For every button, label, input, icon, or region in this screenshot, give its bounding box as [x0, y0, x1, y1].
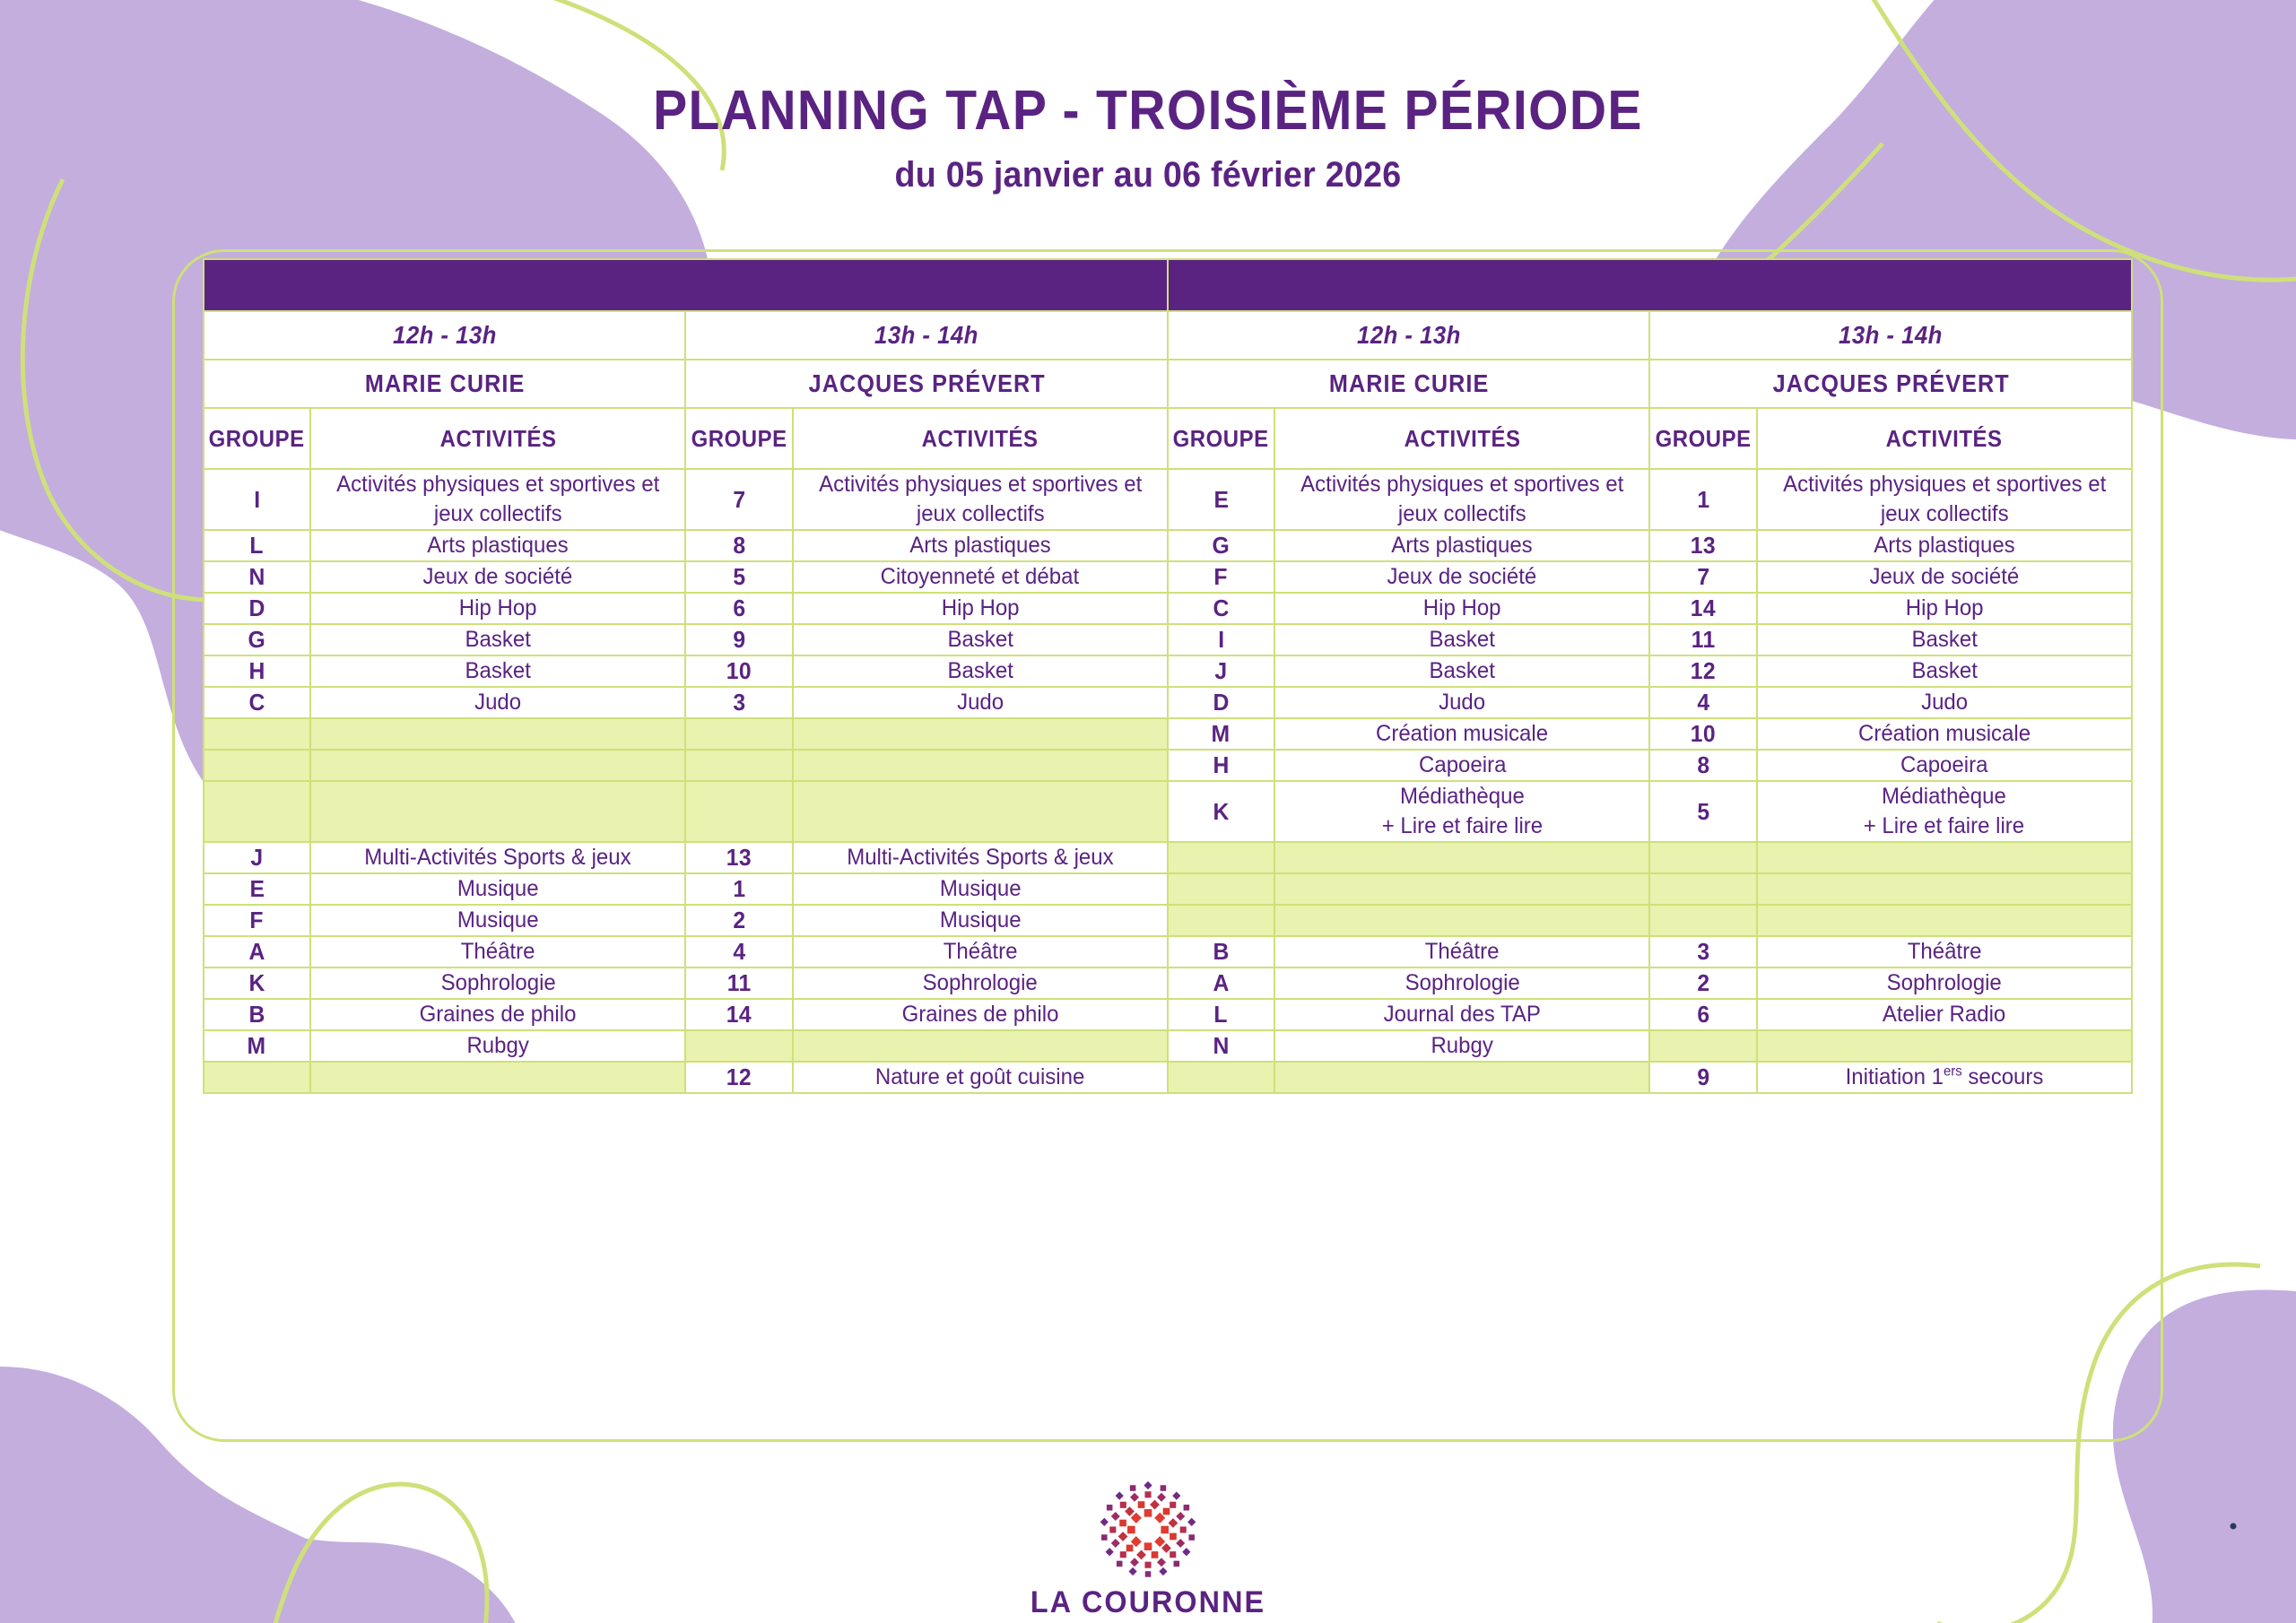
- cell-group-lundi-mc: D: [204, 593, 310, 624]
- cell-group-lundi-mc: C: [204, 687, 310, 718]
- cell-group-jeudi-jp: 1: [1649, 469, 1756, 530]
- cell-group-lundi-jp: 14: [685, 999, 792, 1030]
- cell-activity-lundi-jp: Judo: [793, 687, 1168, 718]
- cell-activity-lundi-jp: Multi-Activités Sports & jeux: [793, 842, 1168, 873]
- logo-square: [1161, 1526, 1169, 1534]
- cell-group-jeudi-mc: M: [1168, 718, 1274, 750]
- logo-square: [1120, 1502, 1126, 1508]
- cell-group-lundi-jp: [685, 718, 792, 750]
- day-banner-lundi: LUNDI: [204, 259, 1168, 311]
- table-row: JMulti-Activités Sports & jeux13Multi-Ac…: [204, 842, 2132, 873]
- table-row: KMédiathèque+ Lire et faire lire5Médiath…: [204, 781, 2132, 842]
- cell-group-jeudi-jp: 6: [1649, 999, 1756, 1030]
- cell-activity-jeudi-jp: [1757, 873, 2133, 905]
- cell-group-jeudi-mc: B: [1168, 936, 1274, 968]
- cell-activity-lundi-mc: Graines de philo: [310, 999, 685, 1030]
- cell-activity-jeudi-mc: Basket: [1274, 624, 1649, 655]
- table-row: LArts plastiques8Arts plastiquesGArts pl…: [204, 530, 2132, 561]
- day-banner-jeudi: JEUDI: [1168, 259, 2132, 311]
- cell-activity-lundi-jp: Basket: [793, 655, 1168, 687]
- table-row: EMusique1Musique: [204, 873, 2132, 905]
- cell-activity-jeudi-mc: Théâtre: [1274, 936, 1649, 968]
- cell-group-lundi-jp: 4: [685, 936, 792, 968]
- cell-group-jeudi-jp: 4: [1649, 687, 1756, 718]
- cell-group-jeudi-mc: E: [1168, 469, 1274, 530]
- cell-group-jeudi-jp: [1649, 1030, 1756, 1062]
- logo-square: [1131, 1513, 1142, 1523]
- logo-square: [1163, 1508, 1170, 1515]
- cell-group-jeudi-mc: [1168, 905, 1274, 936]
- cell-activity-lundi-jp: Musique: [793, 873, 1168, 905]
- cell-group-lundi-mc: [204, 750, 310, 781]
- cell-activity-lundi-mc: [310, 718, 685, 750]
- cell-activity-jeudi-mc: Création musicale: [1274, 718, 1649, 750]
- table-row: AThéâtre4ThéâtreBThéâtre3Théâtre: [204, 936, 2132, 968]
- col-head-groupe-2: GROUPE: [685, 408, 792, 469]
- cell-activity-lundi-mc: Jeux de société: [310, 561, 685, 593]
- cell-group-lundi-mc: G: [204, 624, 310, 655]
- cell-group-jeudi-mc: J: [1168, 655, 1274, 687]
- logo-square: [1145, 1571, 1152, 1577]
- cell-group-jeudi-jp: 14: [1649, 593, 1756, 624]
- cell-activity-lundi-mc: Basket: [310, 655, 685, 687]
- cell-activity-jeudi-jp: Jeux de société: [1757, 561, 2133, 593]
- table-row: HBasket10BasketJBasket12Basket: [204, 655, 2132, 687]
- cell-activity-jeudi-mc: Jeux de société: [1274, 561, 1649, 593]
- cell-activity-jeudi-jp: Basket: [1757, 624, 2133, 655]
- cell-activity-lundi-mc: Judo: [310, 687, 685, 718]
- cell-group-jeudi-mc: K: [1168, 781, 1274, 842]
- logo-square: [1101, 1534, 1108, 1541]
- cell-activity-jeudi-jp: Création musicale: [1757, 718, 2133, 750]
- cell-group-jeudi-mc: I: [1168, 624, 1274, 655]
- logo-square: [1144, 1481, 1152, 1489]
- logo-square: [1157, 1493, 1166, 1502]
- table-row: DHip Hop6Hip HopCHip Hop14Hip Hop: [204, 593, 2132, 624]
- cell-activity-lundi-mc: Musique: [310, 905, 685, 936]
- cell-group-jeudi-jp: 12: [1649, 655, 1756, 687]
- cell-group-jeudi-mc: [1168, 873, 1274, 905]
- cell-activity-jeudi-jp: Arts plastiques: [1757, 530, 2133, 561]
- cell-group-jeudi-mc: F: [1168, 561, 1274, 593]
- cell-activity-lundi-jp: Nature et goût cuisine: [793, 1062, 1168, 1093]
- cell-activity-lundi-mc: Théâtre: [310, 936, 685, 968]
- cell-activity-lundi-mc: Basket: [310, 624, 685, 655]
- time-slot-row: 12h - 13h 13h - 14h 12h - 13h 13h - 14h: [204, 311, 2132, 360]
- logo-square: [1150, 1500, 1160, 1510]
- cell-group-lundi-jp: 12: [685, 1062, 792, 1093]
- cell-group-lundi-mc: I: [204, 469, 310, 530]
- cell-activity-jeudi-mc: Hip Hop: [1274, 593, 1649, 624]
- logo-square: [1170, 1551, 1176, 1558]
- cell-group-lundi-jp: 5: [685, 561, 792, 593]
- cell-group-jeudi-mc: A: [1168, 968, 1274, 999]
- logo-square: [1130, 1558, 1139, 1567]
- cell-group-lundi-mc: F: [204, 905, 310, 936]
- cell-group-lundi-jp: 11: [685, 968, 792, 999]
- table-row: CJudo3JudoDJudo4Judo: [204, 687, 2132, 718]
- cell-group-jeudi-jp: 10: [1649, 718, 1756, 750]
- col-head-activites-2: ACTIVITÉS: [793, 408, 1168, 469]
- cell-group-lundi-jp: 8: [685, 530, 792, 561]
- cell-group-jeudi-jp: 7: [1649, 561, 1756, 593]
- planning-poster: PLANNING TAP - TROISIÈME PÉRIODE du 05 j…: [0, 0, 2296, 1623]
- logo-square: [1169, 1518, 1178, 1528]
- logo-square: [1100, 1518, 1109, 1526]
- cell-group-lundi-mc: K: [204, 968, 310, 999]
- cell-activity-lundi-jp: Graines de philo: [793, 999, 1168, 1030]
- cell-activity-lundi-mc: [310, 1062, 685, 1093]
- cell-activity-jeudi-jp: Activités physiques et sportives et jeux…: [1757, 469, 2133, 530]
- logo-square: [1138, 1501, 1145, 1508]
- col-head-groupe-3: GROUPE: [1168, 408, 1274, 469]
- cell-group-jeudi-jp: [1649, 873, 1756, 905]
- school-jeudi-mc: MARIE CURIE: [1168, 360, 1649, 408]
- cell-activity-jeudi-jp: Initiation 1ers secours: [1757, 1062, 2133, 1093]
- cell-activity-lundi-jp: [793, 750, 1168, 781]
- logo-square: [1144, 1542, 1152, 1550]
- logo-square: [1174, 1561, 1180, 1567]
- logo-name: LA COURONNE: [57, 1585, 2239, 1620]
- school-lundi-mc: MARIE CURIE: [204, 360, 685, 408]
- cell-group-lundi-jp: 10: [685, 655, 792, 687]
- cell-activity-jeudi-jp: Capoeira: [1757, 750, 2133, 781]
- cell-group-jeudi-jp: 2: [1649, 968, 1756, 999]
- cell-activity-lundi-mc: Multi-Activités Sports & jeux: [310, 842, 685, 873]
- logo-square: [1170, 1502, 1176, 1508]
- cell-group-jeudi-mc: C: [1168, 593, 1274, 624]
- table-row: BGraines de philo14Graines de philoLJour…: [204, 999, 2132, 1030]
- col-head-activites-4: ACTIVITÉS: [1757, 408, 2133, 469]
- couronne-logo-icon: [1078, 1480, 1218, 1580]
- logo-square: [1187, 1518, 1196, 1526]
- table-row: IActivités physiques et sportives et jeu…: [204, 469, 2132, 530]
- cell-activity-jeudi-mc: Sophrologie: [1274, 968, 1649, 999]
- column-header-row: GROUPE ACTIVITÉS GROUPE ACTIVITÉS GROUPE…: [204, 408, 2132, 469]
- cell-activity-lundi-mc: Hip Hop: [310, 593, 685, 624]
- logo-block: LA COURONNE CHARENTE: [0, 1480, 2296, 1623]
- cell-activity-lundi-mc: Activités physiques et sportives et jeux…: [310, 469, 685, 530]
- time-slot-jeudi-jp: 13h - 14h: [1649, 311, 2132, 360]
- cell-activity-jeudi-jp: Médiathèque+ Lire et faire lire: [1757, 781, 2133, 842]
- table-row: NJeux de société5Citoyenneté et débatFJe…: [204, 561, 2132, 593]
- cell-group-jeudi-jp: 5: [1649, 781, 1756, 842]
- cell-activity-lundi-jp: Hip Hop: [793, 593, 1168, 624]
- school-jeudi-jp: JACQUES PRÉVERT: [1649, 360, 2132, 408]
- table-row: MRubgyNRubgy: [204, 1030, 2132, 1062]
- cell-group-lundi-jp: [685, 1030, 792, 1062]
- cell-activity-jeudi-jp: Judo: [1757, 687, 2133, 718]
- cell-group-lundi-jp: [685, 750, 792, 781]
- logo-square: [1144, 1491, 1151, 1497]
- cell-group-lundi-mc: M: [204, 1030, 310, 1062]
- cell-activity-jeudi-jp: Hip Hop: [1757, 593, 2133, 624]
- cell-activity-jeudi-mc: Arts plastiques: [1274, 530, 1649, 561]
- cell-activity-jeudi-mc: [1274, 1062, 1649, 1093]
- cell-activity-jeudi-mc: Activités physiques et sportives et jeux…: [1274, 469, 1649, 530]
- cell-activity-jeudi-jp: Théâtre: [1757, 936, 2133, 968]
- cell-group-lundi-jp: 6: [685, 593, 792, 624]
- logo-square: [1119, 1520, 1126, 1527]
- cell-group-jeudi-mc: D: [1168, 687, 1274, 718]
- logo-square: [1152, 1551, 1159, 1558]
- cell-group-lundi-mc: J: [204, 842, 310, 873]
- cell-activity-jeudi-mc: [1274, 905, 1649, 936]
- cell-group-lundi-mc: B: [204, 999, 310, 1030]
- time-slot-jeudi-mc: 12h - 13h: [1168, 311, 1649, 360]
- logo-square: [1157, 1558, 1166, 1567]
- title-block: PLANNING TAP - TROISIÈME PÉRIODE du 05 j…: [0, 79, 2296, 195]
- cell-group-jeudi-mc: [1168, 842, 1274, 873]
- time-slot-lundi-jp: 13h - 14h: [685, 311, 1168, 360]
- cell-activity-jeudi-jp: Sophrologie: [1757, 968, 2133, 999]
- cell-group-lundi-jp: 13: [685, 842, 792, 873]
- cell-group-lundi-jp: 9: [685, 624, 792, 655]
- table-body: IActivités physiques et sportives et jeu…: [204, 469, 2132, 1093]
- cell-group-lundi-jp: 3: [685, 687, 792, 718]
- table-row: MCréation musicale10Création musicale: [204, 718, 2132, 750]
- cell-group-lundi-jp: 2: [685, 905, 792, 936]
- cell-group-jeudi-jp: [1649, 905, 1756, 936]
- logo-square: [1120, 1551, 1126, 1558]
- page-subtitle: du 05 janvier au 06 février 2026: [69, 155, 2227, 195]
- logo-square: [1130, 1485, 1136, 1491]
- school-lundi-jp: JACQUES PRÉVERT: [685, 360, 1168, 408]
- cell-group-lundi-mc: [204, 781, 310, 842]
- day-label-jeudi: JEUDI: [1607, 268, 1692, 302]
- col-head-activites-3: ACTIVITÉS: [1274, 408, 1649, 469]
- logo-square: [1170, 1533, 1177, 1541]
- table-row: 12Nature et goût cuisine9Initiation 1ers…: [204, 1062, 2132, 1093]
- cell-activity-lundi-jp: Théâtre: [793, 936, 1168, 968]
- cell-activity-jeudi-mc: Judo: [1274, 687, 1649, 718]
- cell-activity-jeudi-jp: [1757, 905, 2133, 936]
- cell-group-jeudi-jp: 13: [1649, 530, 1756, 561]
- logo-square: [1180, 1526, 1187, 1532]
- cell-activity-jeudi-mc: Rubgy: [1274, 1030, 1649, 1062]
- cell-activity-lundi-jp: Basket: [793, 624, 1168, 655]
- cell-group-lundi-jp: 7: [685, 469, 792, 530]
- planning-table-container: LUNDI JEUDI 12h - 13h 13h - 14h 12h - 13…: [203, 258, 2133, 1094]
- cell-activity-jeudi-jp: [1757, 842, 2133, 873]
- cell-group-jeudi-mc: G: [1168, 530, 1274, 561]
- logo-square: [1111, 1512, 1120, 1521]
- table-row: FMusique2Musique: [204, 905, 2132, 936]
- cell-activity-jeudi-mc: Basket: [1274, 655, 1649, 687]
- logo-square: [1117, 1561, 1123, 1567]
- cell-activity-lundi-jp: Arts plastiques: [793, 530, 1168, 561]
- logo-square: [1176, 1512, 1185, 1521]
- cell-group-jeudi-jp: 9: [1649, 1062, 1756, 1093]
- cell-group-jeudi-jp: 8: [1649, 750, 1756, 781]
- cell-group-lundi-mc: E: [204, 873, 310, 905]
- cell-activity-jeudi-mc: Médiathèque+ Lire et faire lire: [1274, 781, 1649, 842]
- cell-group-jeudi-jp: [1649, 842, 1756, 873]
- logo-square: [1188, 1534, 1195, 1541]
- cell-group-jeudi-mc: N: [1168, 1030, 1274, 1062]
- cell-group-lundi-jp: [685, 781, 792, 842]
- cell-group-jeudi-jp: 11: [1649, 624, 1756, 655]
- logo-square: [1172, 1491, 1180, 1499]
- cell-group-jeudi-mc: H: [1168, 750, 1274, 781]
- logo-square: [1107, 1505, 1113, 1511]
- cell-group-jeudi-jp: 3: [1649, 936, 1756, 968]
- cell-activity-lundi-jp: Musique: [793, 905, 1168, 936]
- cell-group-lundi-mc: N: [204, 561, 310, 593]
- col-head-groupe-4: GROUPE: [1649, 408, 1756, 469]
- logo-square: [1144, 1562, 1151, 1568]
- cell-activity-jeudi-jp: Atelier Radio: [1757, 999, 2133, 1030]
- cell-group-lundi-mc: H: [204, 655, 310, 687]
- logo-square: [1118, 1532, 1128, 1541]
- logo-square: [1116, 1491, 1124, 1499]
- day-banner-row: LUNDI JEUDI: [204, 259, 2132, 311]
- logo-square: [1128, 1567, 1136, 1575]
- logo-square: [1130, 1493, 1139, 1502]
- logo-square: [1154, 1536, 1165, 1547]
- cell-activity-lundi-mc: [310, 781, 685, 842]
- cell-activity-jeudi-mc: [1274, 842, 1649, 873]
- col-head-groupe-1: GROUPE: [204, 408, 310, 469]
- cell-group-lundi-mc: [204, 718, 310, 750]
- cell-group-jeudi-mc: [1168, 1062, 1274, 1093]
- col-head-activites-1: ACTIVITÉS: [310, 408, 685, 469]
- logo-square: [1136, 1550, 1146, 1560]
- day-label-lundi: LUNDI: [642, 268, 730, 302]
- cell-group-lundi-mc: A: [204, 936, 310, 968]
- logo-square: [1127, 1526, 1135, 1534]
- table-row: HCapoeira8Capoeira: [204, 750, 2132, 781]
- logo-square: [1184, 1505, 1190, 1511]
- cell-group-lundi-jp: 1: [685, 873, 792, 905]
- logo-square: [1161, 1485, 1167, 1491]
- logo-square: [1111, 1539, 1120, 1548]
- cell-group-jeudi-mc: L: [1168, 999, 1274, 1030]
- cell-activity-lundi-mc: Arts plastiques: [310, 530, 685, 561]
- cell-activity-jeudi-jp: [1757, 1030, 2133, 1062]
- cell-activity-lundi-jp: [793, 781, 1168, 842]
- logo-square: [1182, 1548, 1190, 1556]
- cell-activity-lundi-jp: Citoyenneté et débat: [793, 561, 1168, 593]
- cell-activity-lundi-mc: Sophrologie: [310, 968, 685, 999]
- table-head: LUNDI JEUDI 12h - 13h 13h - 14h 12h - 13…: [204, 259, 2132, 469]
- cell-activity-jeudi-mc: [1274, 873, 1649, 905]
- table-row: GBasket9BasketIBasket11Basket: [204, 624, 2132, 655]
- cell-group-lundi-mc: L: [204, 530, 310, 561]
- logo-square: [1126, 1545, 1134, 1552]
- cell-activity-lundi-mc: Musique: [310, 873, 685, 905]
- cell-activity-lundi-jp: [793, 1030, 1168, 1062]
- logo-square: [1176, 1539, 1185, 1548]
- cell-activity-lundi-mc: [310, 750, 685, 781]
- table-row: KSophrologie11SophrologieASophrologie2So…: [204, 968, 2132, 999]
- school-row: MARIE CURIE JACQUES PRÉVERT MARIE CURIE …: [204, 360, 2132, 408]
- cell-activity-jeudi-mc: Capoeira: [1274, 750, 1649, 781]
- logo-square: [1144, 1509, 1152, 1517]
- time-slot-lundi-mc: 12h - 13h: [204, 311, 685, 360]
- cell-activity-lundi-jp: Sophrologie: [793, 968, 1168, 999]
- logo-square: [1109, 1526, 1116, 1532]
- logo-square: [1106, 1548, 1114, 1556]
- cell-activity-lundi-jp: Activités physiques et sportives et jeux…: [793, 469, 1168, 530]
- cell-activity-lundi-mc: Rubgy: [310, 1030, 685, 1062]
- logo-square: [1159, 1567, 1167, 1575]
- planning-table: LUNDI JEUDI 12h - 13h 13h - 14h 12h - 13…: [203, 258, 2133, 1094]
- cell-activity-lundi-jp: [793, 718, 1168, 750]
- cell-group-lundi-mc: [204, 1062, 310, 1093]
- cell-activity-jeudi-mc: Journal des TAP: [1274, 999, 1649, 1030]
- page-title: PLANNING TAP - TROISIÈME PÉRIODE: [91, 79, 2204, 143]
- cell-activity-jeudi-jp: Basket: [1757, 655, 2133, 687]
